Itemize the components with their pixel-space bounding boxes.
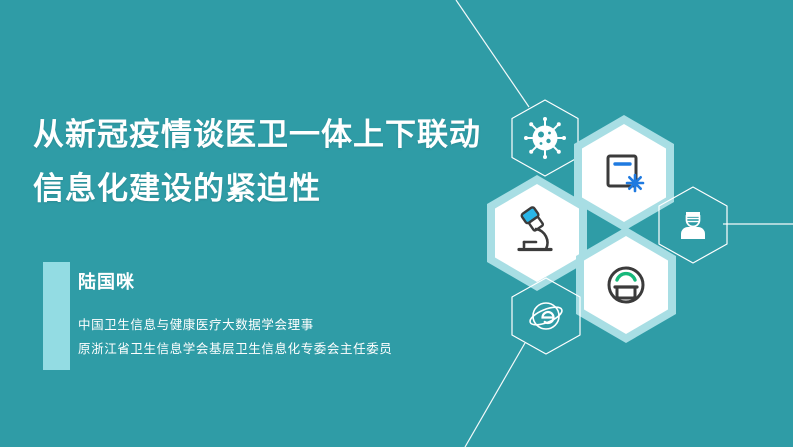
e-globe-icon <box>528 303 564 329</box>
masked-doctor-icon <box>681 212 705 239</box>
hexagon-masked-doctor <box>652 184 734 266</box>
presentation-title-slide: 从新冠疫情谈医卫一体上下联动 信息化建设的紧迫性 陆国咪 中国卫生信息与健康医疗… <box>0 0 793 447</box>
virus-icon <box>524 117 566 159</box>
hexagon-e-globe <box>505 275 587 357</box>
hexagon-graphic-cluster <box>0 0 793 447</box>
